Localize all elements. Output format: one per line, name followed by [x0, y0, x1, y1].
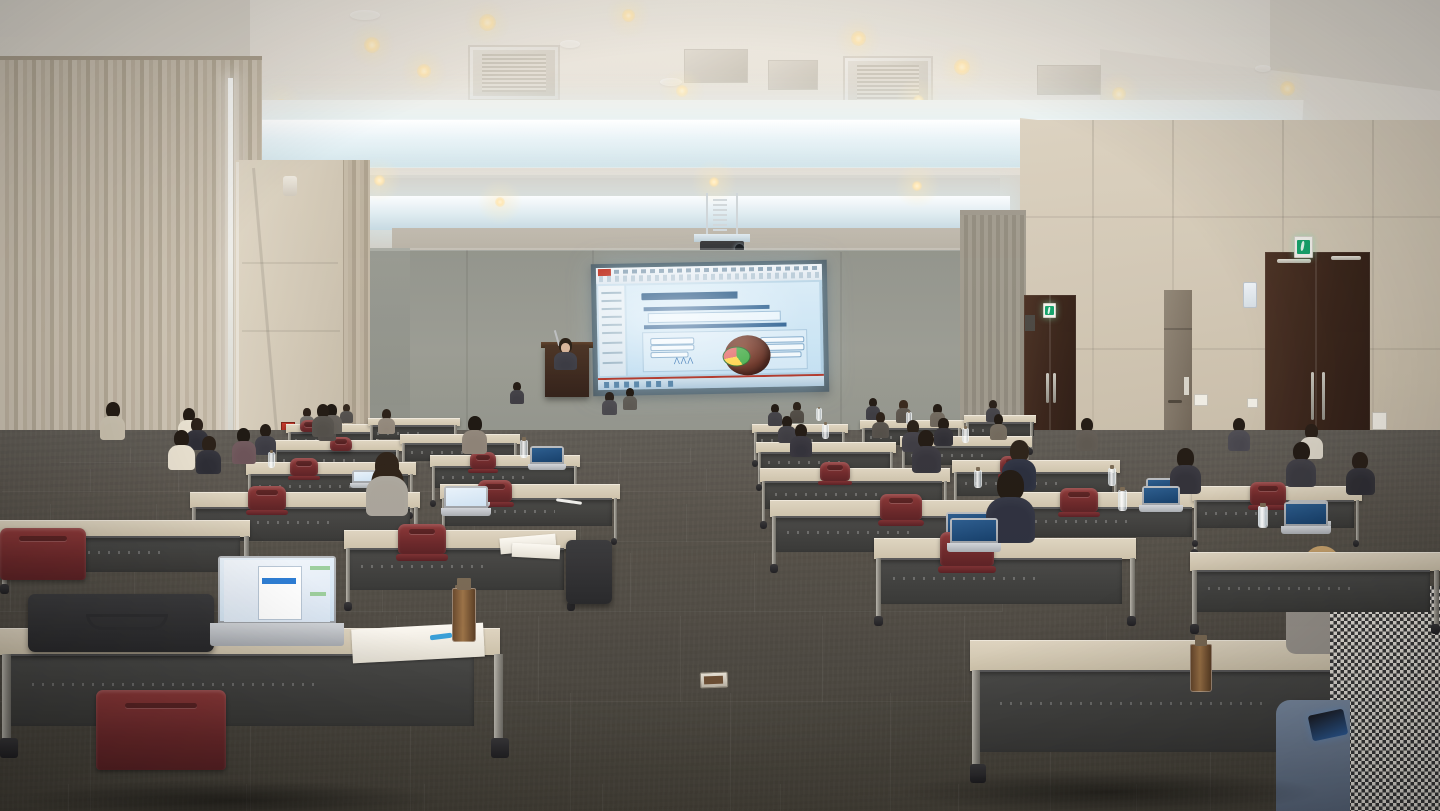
door-service[interactable] [1164, 290, 1192, 435]
attendee-torso [1228, 430, 1250, 451]
wall-seam [466, 250, 468, 440]
chair[interactable] [0, 528, 86, 580]
water-bottle[interactable] [268, 452, 275, 468]
attendee-torso [623, 396, 637, 410]
table-leg[interactable] [2, 654, 11, 742]
attendee-torso [312, 416, 334, 437]
table-caster[interactable] [1431, 624, 1440, 634]
carpet-tile [618, 469, 707, 492]
downlight-icon [622, 9, 635, 22]
seminar-room-photo: ⋀⋀⋀ [0, 0, 1440, 811]
laptop-chart-bar[interactable] [310, 592, 326, 596]
downlight-icon [495, 197, 505, 207]
table-leg[interactable] [762, 481, 765, 525]
projection-screen[interactable]: ⋀⋀⋀ [596, 264, 824, 390]
downlight-icon [912, 181, 922, 191]
chair[interactable] [1250, 482, 1286, 505]
attendee-torso [196, 450, 221, 474]
downlight-icon [709, 177, 719, 187]
carpet-tile [602, 784, 781, 811]
table[interactable] [1190, 552, 1440, 570]
downlight-icon [417, 64, 431, 78]
chair-seat[interactable] [246, 510, 288, 515]
attendee-torso [100, 416, 125, 440]
carpet-tile [60, 448, 131, 463]
water-bottle[interactable] [962, 428, 969, 443]
ceiling-disc [350, 10, 380, 20]
chair-seat[interactable] [818, 481, 852, 485]
table-leg[interactable] [1194, 500, 1197, 544]
carpet-tile [822, 616, 965, 702]
table-leg[interactable] [494, 654, 503, 742]
exit-sign-far [1043, 303, 1056, 318]
projector-lift-rod [713, 196, 727, 236]
light-switch-right-icon[interactable] [1372, 412, 1387, 430]
column-seam [242, 262, 338, 264]
downlight-icon [954, 59, 970, 75]
table-caster[interactable] [1192, 540, 1198, 547]
chair[interactable] [820, 462, 850, 481]
floor-power-outlet[interactable] [700, 672, 729, 689]
laptop[interactable] [530, 446, 564, 470]
chair[interactable] [248, 486, 286, 510]
attendee-torso [366, 476, 408, 516]
table-leg[interactable] [432, 466, 435, 504]
ceiling-disc [560, 40, 580, 48]
laptop[interactable] [1142, 486, 1180, 512]
table-caster[interactable] [874, 616, 883, 626]
access-control-panel[interactable] [1243, 282, 1257, 308]
laptop-chart-bar[interactable] [310, 566, 330, 570]
attendee-torso [1076, 430, 1098, 451]
attendee-torso [462, 430, 487, 454]
attendee-torso [602, 400, 617, 414]
downlight-icon [676, 85, 688, 97]
exit-sign-right [1294, 236, 1313, 258]
ceiling-disc [1255, 65, 1271, 72]
laptop-window-row[interactable] [262, 578, 296, 584]
table-leg[interactable] [614, 498, 617, 542]
table-caster[interactable] [344, 602, 352, 611]
floor-shadow[interactable] [900, 770, 1320, 811]
table-leg[interactable] [972, 670, 980, 768]
water-bottle[interactable] [974, 470, 982, 488]
chair-seat[interactable] [468, 469, 498, 473]
chair[interactable] [1060, 488, 1098, 512]
backpack[interactable] [566, 540, 612, 604]
laptop[interactable] [1284, 502, 1328, 534]
attendee-torso [768, 412, 782, 426]
cove-lip-upper [227, 100, 1303, 120]
water-bottle[interactable] [1258, 506, 1268, 528]
attendee-torso [990, 424, 1007, 440]
table-caster[interactable] [770, 564, 778, 573]
attendee-torso [912, 446, 941, 473]
laptop[interactable] [950, 518, 998, 552]
carpet-tile [620, 448, 691, 463]
chair-seat[interactable] [878, 520, 924, 526]
water-bottle[interactable] [452, 588, 476, 642]
attendee-torso [790, 410, 804, 423]
downlight-icon [1112, 87, 1126, 101]
water-bottle[interactable] [1118, 490, 1127, 511]
column-seam [242, 330, 340, 332]
carpet-tile [424, 784, 603, 811]
attendee-torso [340, 411, 353, 423]
water-bottle[interactable] [1108, 468, 1116, 486]
table-caster[interactable] [0, 584, 9, 594]
water-bottle[interactable] [520, 440, 528, 458]
laptop[interactable] [444, 486, 488, 516]
wall-seam [840, 252, 842, 442]
downlight-icon [364, 37, 380, 53]
carpet-tile [2, 469, 91, 492]
water-bottle[interactable] [1190, 644, 1212, 692]
attendee-torso [1346, 468, 1375, 495]
ac-vent-icon [468, 45, 560, 101]
chair-seat[interactable] [1058, 512, 1100, 517]
carpet-tile [680, 616, 823, 702]
table-caster[interactable] [1353, 540, 1359, 547]
table-leg[interactable] [772, 516, 776, 568]
table-caster[interactable] [430, 500, 436, 507]
chair-seat[interactable] [1248, 505, 1288, 510]
ac-vent-icon [768, 60, 818, 90]
downlight-icon [374, 175, 385, 186]
chair-seat[interactable] [396, 554, 448, 561]
attendee-torso [378, 418, 395, 434]
attendee-torso [934, 428, 953, 446]
laptop-window[interactable] [258, 566, 302, 620]
table-caster[interactable] [1190, 624, 1199, 634]
chair[interactable] [96, 690, 226, 770]
chair[interactable] [290, 458, 318, 476]
attendee-torso [232, 441, 256, 463]
table-leg[interactable] [1192, 570, 1197, 628]
attendee-torso [872, 422, 889, 438]
table-caster[interactable] [1127, 616, 1136, 626]
light-switch-icon[interactable] [1194, 394, 1208, 406]
attendee-torso [1286, 459, 1316, 488]
ac-vent-icon [1037, 65, 1101, 95]
table[interactable] [400, 434, 520, 443]
chair-seat[interactable] [288, 476, 320, 480]
curtain-light-gap [228, 78, 233, 478]
table-modesty-panel[interactable] [878, 558, 1122, 604]
downlight-icon [1280, 81, 1295, 96]
table-leg[interactable] [1434, 570, 1439, 628]
chair[interactable] [880, 494, 922, 520]
chair-seat[interactable] [938, 566, 996, 573]
wall-outlet-icon [1247, 398, 1258, 408]
downlight-icon [851, 31, 866, 46]
paper-handout[interactable] [512, 543, 561, 559]
wall-speaker-icon [283, 176, 297, 196]
table-leg[interactable] [1356, 500, 1359, 544]
chair[interactable] [470, 452, 496, 469]
table[interactable] [756, 442, 896, 452]
table-leg[interactable] [346, 548, 350, 606]
wall-speaker-far-icon [1025, 315, 1035, 331]
water-bottle[interactable] [816, 408, 822, 421]
attendee-torso [168, 445, 195, 470]
table-caster[interactable] [760, 521, 767, 529]
carpet-tile [90, 469, 179, 492]
table-modesty-panel[interactable] [1194, 570, 1430, 612]
downlight-icon [479, 14, 496, 31]
water-bottle[interactable] [822, 424, 829, 439]
attendee-torso [510, 390, 524, 404]
carpet-tile [538, 616, 681, 702]
table-caster[interactable] [0, 738, 18, 758]
table-leg[interactable] [876, 558, 881, 620]
table-caster[interactable] [491, 738, 509, 758]
attendee-torso [790, 436, 812, 457]
table-leg[interactable] [1130, 558, 1135, 620]
table-modesty-panel[interactable] [4, 654, 474, 726]
bag-handle[interactable] [86, 614, 168, 630]
carpet-tile [630, 553, 755, 612]
chair[interactable] [398, 524, 446, 554]
